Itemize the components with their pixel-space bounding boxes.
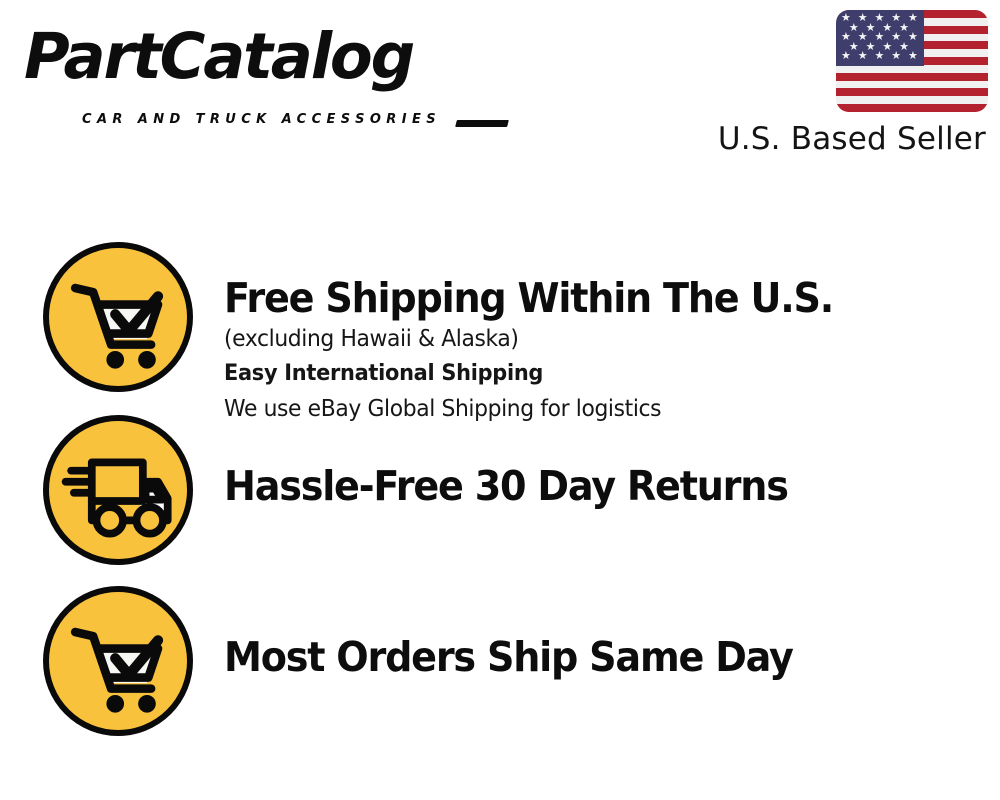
flag-stripe: [836, 81, 988, 89]
us-based-seller-badge: ★ ★ ★ ★ ★ ★ ★ ★ ★ ★ ★ ★ ★ ★ ★ ★ ★ ★ ★ ★: [708, 10, 988, 157]
logo-swash-decoration: [455, 120, 509, 127]
benefit-subtitle: We use eBay Global Shipping for logistic…: [224, 392, 946, 426]
benefit-subtitle: Easy International Shipping: [224, 356, 946, 392]
us-based-seller-label: U.S. Based Seller: [708, 121, 986, 157]
benefit-subtitle: (excluding Hawaii & Alaska): [224, 322, 946, 356]
flag-canton: ★ ★ ★ ★ ★ ★ ★ ★ ★ ★ ★ ★ ★ ★ ★ ★ ★ ★ ★ ★: [836, 10, 924, 66]
brand-tagline: CAR AND TRUCK ACCESSORIES: [82, 112, 441, 127]
flag-stripe: [836, 88, 988, 96]
flag-stripe: [836, 96, 988, 104]
delivery-truck-icon: [43, 415, 193, 565]
us-flag-icon: ★ ★ ★ ★ ★ ★ ★ ★ ★ ★ ★ ★ ★ ★ ★ ★ ★ ★ ★ ★: [836, 10, 988, 112]
flag-stripe: [836, 73, 988, 81]
flag-stripe: [836, 65, 988, 73]
benefit-text-block: Hassle-Free 30 Day Returns: [224, 462, 984, 510]
page-header: PartCatalog CAR AND TRUCK ACCESSORIES ★ …: [0, 0, 1000, 175]
brand-wordmark: PartCatalog: [24, 24, 413, 90]
benefit-title: Most Orders Ship Same Day: [224, 633, 931, 681]
benefit-title: Hassle-Free 30 Day Returns: [224, 462, 931, 510]
benefit-title: Free Shipping Within The U.S.: [224, 274, 931, 322]
benefit-text-block: Most Orders Ship Same Day: [224, 633, 984, 681]
benefit-text-block: Free Shipping Within The U.S. (excluding…: [224, 274, 984, 426]
brand-logo[interactable]: PartCatalog CAR AND TRUCK ACCESSORIES: [24, 24, 494, 114]
shopping-cart-check-icon: [43, 242, 193, 392]
flag-stripe: [836, 104, 988, 112]
shopping-cart-check-icon: [43, 586, 193, 736]
